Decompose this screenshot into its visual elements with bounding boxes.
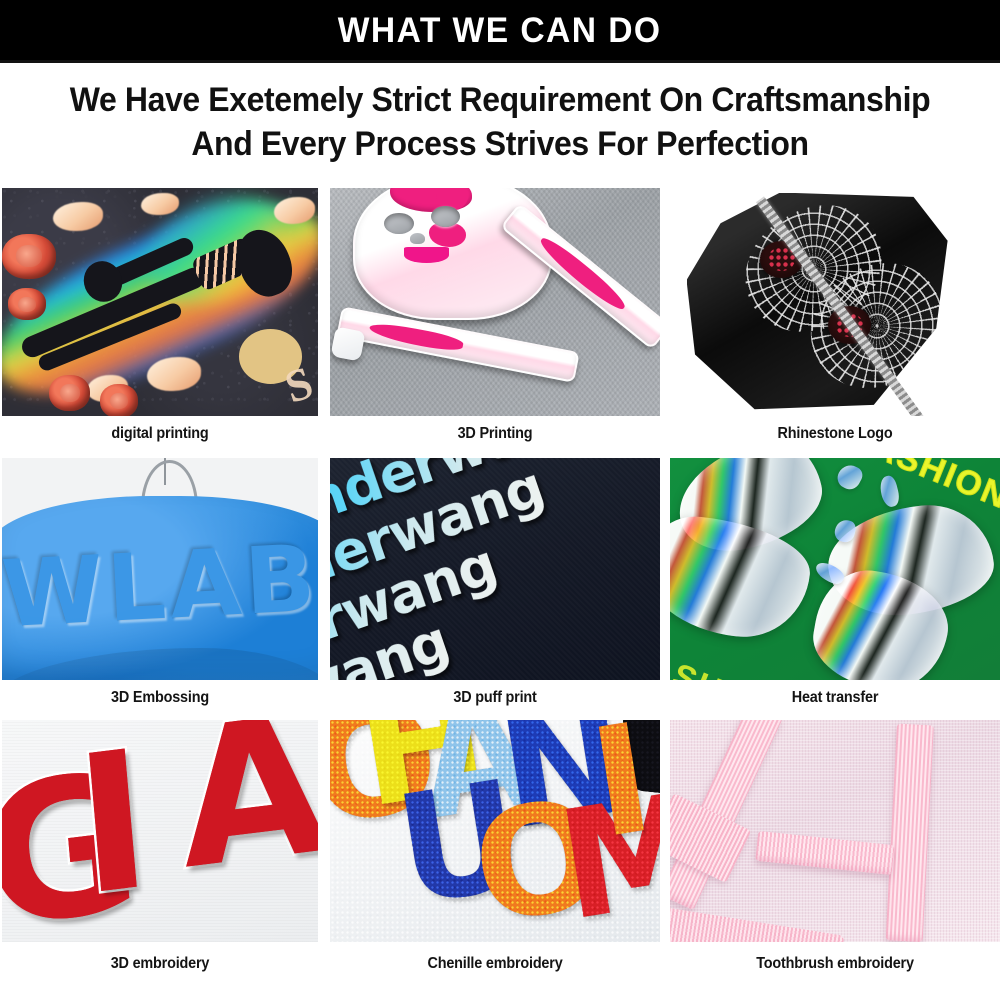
skull-nose xyxy=(410,233,426,244)
letter-crossbar xyxy=(755,830,894,874)
caption-heat-transfer: Heat transfer xyxy=(682,680,989,707)
rose-motif xyxy=(2,234,56,280)
thumbnail-chenille-embroidery[interactable]: O H A U N O M I xyxy=(330,720,660,942)
subtitle-line-2: And Every Process Strives For Perfection xyxy=(30,122,970,166)
gallery-item-3d-embossing[interactable]: WLAB 3D Embossing xyxy=(2,458,318,707)
fashion-text-bottom: FASHION xyxy=(670,638,790,680)
toothbrush-artwork xyxy=(670,720,1000,942)
letter-stroke-right xyxy=(886,723,934,942)
gallery-row-1: S digital printing xyxy=(0,188,1000,458)
gallery-item-toothbrush-embroidery[interactable]: Toothbrush embroidery xyxy=(670,720,1000,973)
thumbnail-rhinestone-logo[interactable] xyxy=(670,188,1000,416)
gallery-item-3d-puff-print[interactable]: xanderwang xanderwang xanderwang xanderw… xyxy=(330,458,660,707)
embossing-artwork: WLAB xyxy=(2,458,318,680)
bone-end-knob xyxy=(331,327,366,362)
3d-printing-artwork xyxy=(330,188,660,416)
thumbnail-3d-printing[interactable] xyxy=(330,188,660,416)
thumbnail-heat-transfer[interactable]: FASHION FASHION xyxy=(670,458,1000,680)
gallery-item-chenille-embroidery[interactable]: O H A U N O M I Chenille embroidery xyxy=(330,720,660,973)
caption-3d-embroidery: 3D embroidery xyxy=(13,942,307,973)
gallery-item-3d-embroidery[interactable]: G I A 3D embroidery xyxy=(2,720,318,973)
holographic-wing xyxy=(670,512,814,644)
embroidered-letter: A xyxy=(171,720,318,896)
caption-toothbrush-embroidery: Toothbrush embroidery xyxy=(682,942,989,973)
gallery-row-2: WLAB 3D Embossing xanderwang xanderwang … xyxy=(0,458,1000,720)
thumbnail-3d-embossing[interactable]: WLAB xyxy=(2,458,318,680)
skull-jaw xyxy=(404,247,449,263)
zipper-teeth xyxy=(756,196,938,416)
chenille-artwork: O H A U N O M I xyxy=(330,720,660,942)
gallery-item-rhinestone-logo[interactable]: Rhinestone Logo xyxy=(670,188,1000,443)
gallery-item-digital-printing[interactable]: S digital printing xyxy=(2,188,318,443)
caption-3d-embossing: 3D Embossing xyxy=(13,680,307,707)
gallery-item-heat-transfer[interactable]: FASHION FASHION Heat transfer xyxy=(670,458,1000,707)
thumbnail-digital-printing[interactable]: S xyxy=(2,188,318,416)
thumbnail-3d-puff-print[interactable]: xanderwang xanderwang xanderwang xanderw… xyxy=(330,458,660,680)
holographic-speck xyxy=(834,461,866,493)
rose-motif xyxy=(49,375,90,411)
header-bar: WHAT WE CAN DO xyxy=(0,0,1000,60)
rose-motif xyxy=(100,384,138,416)
rhinestone-artwork xyxy=(670,188,1000,416)
capability-gallery: S digital printing xyxy=(0,188,1000,1000)
header-divider xyxy=(0,60,1000,63)
caption-digital-printing: digital printing xyxy=(13,416,307,443)
caption-3d-printing: 3D Printing xyxy=(342,416,649,443)
skull-eye-left xyxy=(384,213,413,234)
page-title: WHAT WE CAN DO xyxy=(338,13,662,48)
subtitle-line-1: We Have Exetemely Strict Requirement On … xyxy=(30,78,970,122)
puff-text-rows: xanderwang xanderwang xanderwang xanderw… xyxy=(330,458,660,680)
embossed-text: WLAB xyxy=(2,525,318,649)
rose-motif xyxy=(8,288,46,320)
garment-fold-shadow xyxy=(2,648,318,680)
gallery-row-3: G I A 3D embroidery O H A U N O M I xyxy=(0,720,1000,1000)
zipper-group xyxy=(703,188,1000,416)
heat-transfer-artwork: FASHION FASHION xyxy=(670,458,1000,680)
subtitle-block: We Have Exetemely Strict Requirement On … xyxy=(0,78,1000,166)
embroidery-artwork: G I A xyxy=(2,720,318,942)
digital-printing-artwork: S xyxy=(2,188,318,416)
thumbnail-3d-embroidery[interactable]: G I A xyxy=(2,720,318,942)
holographic-speck xyxy=(878,474,902,508)
chenille-pile-texture xyxy=(330,720,660,942)
caption-chenille-embroidery: Chenille embroidery xyxy=(342,942,649,973)
gallery-item-3d-printing[interactable]: 3D Printing xyxy=(330,188,660,443)
caption-rhinestone-logo: Rhinestone Logo xyxy=(682,416,989,443)
caption-3d-puff-print: 3D puff print xyxy=(342,680,649,707)
thumbnail-toothbrush-embroidery[interactable] xyxy=(670,720,1000,942)
puff-print-artwork: xanderwang xanderwang xanderwang xanderw… xyxy=(330,458,660,680)
